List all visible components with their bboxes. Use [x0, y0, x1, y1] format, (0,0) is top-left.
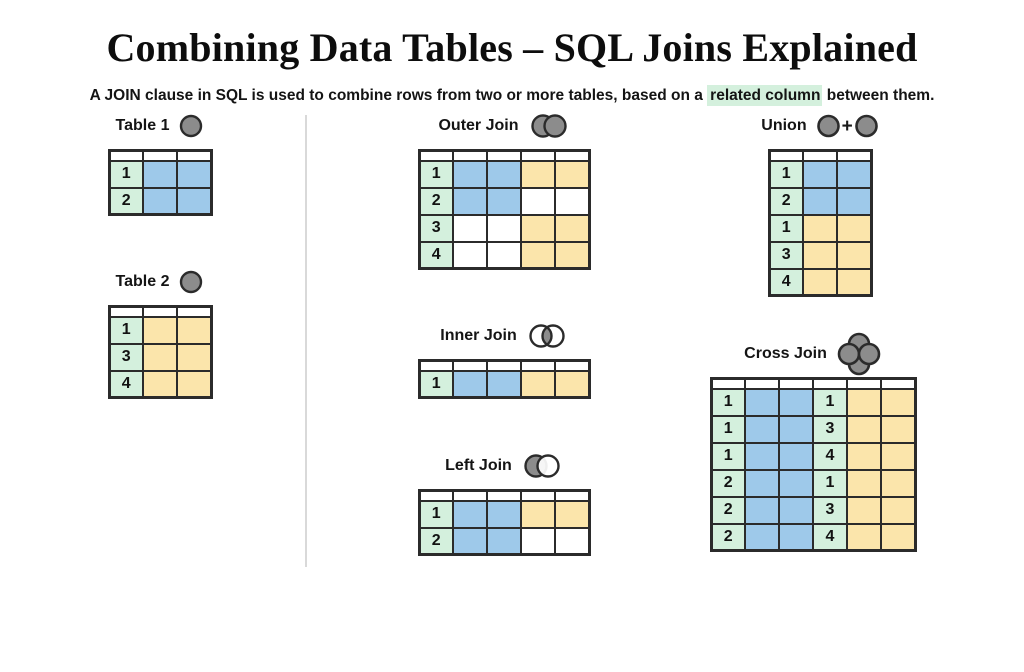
table-cell: 1: [769, 215, 803, 242]
table-cell: [837, 161, 871, 188]
table-cell: 4: [813, 443, 847, 470]
table-cell: [487, 528, 521, 555]
table-cell: [487, 242, 521, 269]
header-cell: [109, 307, 143, 317]
table-cell: [521, 242, 555, 269]
table-row: 1: [109, 317, 211, 344]
header-cell: [143, 307, 177, 317]
table-header-row: [419, 361, 589, 371]
table-cell: [143, 188, 177, 215]
table-wrap: 12: [408, 489, 600, 556]
table-cell: [881, 524, 915, 551]
table-cell: 1: [769, 161, 803, 188]
block-table1: Table 1 12: [72, 113, 248, 216]
venn-left-filled-icon: [521, 453, 563, 479]
table-row: 1: [419, 161, 589, 188]
table-cell: [837, 215, 871, 242]
table-cell: 2: [711, 470, 745, 497]
table-row: 2: [419, 188, 589, 215]
header-cell: [521, 361, 555, 371]
table-row: 1: [419, 501, 589, 528]
table-row: 23: [711, 497, 915, 524]
table-cell: [555, 215, 589, 242]
block-inner-join: Inner Join 1: [408, 323, 600, 399]
table-cell: 2: [769, 188, 803, 215]
diagram-canvas: Table 1 12 Table 2 134 Outer Join: [0, 105, 1024, 665]
table-cell: [177, 344, 211, 371]
data-table: 12: [418, 489, 591, 556]
subtitle-text-before: A JOIN clause in SQL is used to combine …: [90, 87, 708, 104]
table-cell: [779, 497, 813, 524]
table-cell: [847, 524, 881, 551]
table-cell: [555, 188, 589, 215]
table-cell: [177, 188, 211, 215]
column-divider: [305, 115, 307, 567]
venn-both-filled-icon: [528, 113, 570, 139]
table-cell: [881, 443, 915, 470]
table-header-row: [109, 307, 211, 317]
table-cell: 1: [711, 389, 745, 416]
table-cell: 1: [813, 470, 847, 497]
block-left-join: Left Join 12: [408, 453, 600, 556]
table-cell: [837, 188, 871, 215]
page-header: Combining Data Tables – SQL Joins Explai…: [0, 0, 1024, 105]
block-label: Union: [761, 117, 806, 135]
table-cell: [487, 161, 521, 188]
table-cell: [847, 470, 881, 497]
single-circle-filled-icon: [178, 113, 204, 139]
header-cell: [453, 151, 487, 161]
header-cell: [453, 491, 487, 501]
header-cell: [745, 379, 779, 389]
header-cell: [453, 361, 487, 371]
table-cell: [143, 317, 177, 344]
table-cell: [487, 188, 521, 215]
table-cell: [745, 524, 779, 551]
table-row: 2: [109, 188, 211, 215]
table-cell: 3: [419, 215, 453, 242]
table-cell: 3: [813, 497, 847, 524]
table-cell: [745, 443, 779, 470]
table-cell: [487, 371, 521, 398]
header-cell: [555, 361, 589, 371]
table-cell: [881, 497, 915, 524]
block-outer-join: Outer Join 1234: [408, 113, 600, 270]
header-cell: [521, 151, 555, 161]
header-cell: [847, 379, 881, 389]
table-wrap: 111314212324: [700, 377, 926, 552]
table-cell: [847, 497, 881, 524]
table-cell: 3: [813, 416, 847, 443]
table-row: 24: [711, 524, 915, 551]
table-cell: [837, 269, 871, 296]
single-circle-filled-icon: [178, 269, 204, 295]
table-cell: [487, 501, 521, 528]
block-header: Inner Join: [408, 323, 600, 349]
table-cell: [177, 371, 211, 398]
table-cell: [521, 215, 555, 242]
table-wrap: 1234: [408, 149, 600, 270]
table-row: 2: [769, 188, 871, 215]
table-row: 4: [769, 269, 871, 296]
header-cell: [177, 307, 211, 317]
header-cell: [419, 151, 453, 161]
table-cell: [555, 501, 589, 528]
table-cell: [555, 371, 589, 398]
header-cell: [109, 151, 143, 161]
table-cell: 3: [109, 344, 143, 371]
header-cell: [177, 151, 211, 161]
table-cell: [143, 161, 177, 188]
subtitle-highlight: related column: [707, 85, 822, 106]
plus-symbol: +: [842, 117, 853, 136]
table-cell: [177, 161, 211, 188]
data-table: 134: [108, 305, 213, 399]
table-cell: [453, 371, 487, 398]
table-cell: [837, 242, 871, 269]
table-row: 1: [769, 215, 871, 242]
block-union: Union + 12134: [722, 113, 918, 297]
table-cell: 2: [109, 188, 143, 215]
table-cell: [177, 317, 211, 344]
data-table: 1: [418, 359, 591, 399]
header-cell: [803, 151, 837, 161]
block-label: Inner Join: [440, 327, 516, 345]
table-cell: 1: [419, 501, 453, 528]
table-cell: [453, 501, 487, 528]
table-header-row: [711, 379, 915, 389]
header-cell: [837, 151, 871, 161]
table-cell: 4: [109, 371, 143, 398]
table-row: 1: [109, 161, 211, 188]
block-header: Outer Join: [408, 113, 600, 139]
table-cell: [143, 371, 177, 398]
header-cell: [711, 379, 745, 389]
table-cell: [779, 389, 813, 416]
table-cell: 1: [109, 317, 143, 344]
table-cell: [453, 528, 487, 555]
table-cell: [779, 443, 813, 470]
table-row: 1: [419, 371, 589, 398]
data-table: 1234: [418, 149, 591, 270]
table-cell: [881, 416, 915, 443]
table-cell: [779, 470, 813, 497]
table-cell: [745, 389, 779, 416]
header-cell: [881, 379, 915, 389]
table-header-row: [419, 151, 589, 161]
table-cell: [555, 242, 589, 269]
page-title: Combining Data Tables – SQL Joins Explai…: [0, 26, 1024, 71]
block-label: Cross Join: [744, 345, 827, 363]
data-table: 12: [108, 149, 213, 216]
block-table2: Table 2 134: [72, 269, 248, 399]
table-cell: 4: [769, 269, 803, 296]
table-cell: [881, 470, 915, 497]
table-cell: 2: [711, 497, 745, 524]
table-cell: 4: [419, 242, 453, 269]
table-row: 14: [711, 443, 915, 470]
table-cell: [745, 470, 779, 497]
table-row: 1: [769, 161, 871, 188]
table-cell: [521, 371, 555, 398]
table-row: 3: [769, 242, 871, 269]
table-cell: 1: [711, 443, 745, 470]
header-cell: [813, 379, 847, 389]
table-cell: [779, 416, 813, 443]
table-cell: [779, 524, 813, 551]
block-header: Cross Join: [700, 341, 926, 367]
table-cell: [521, 528, 555, 555]
header-cell: [419, 491, 453, 501]
table-cell: [143, 344, 177, 371]
table-cell: [803, 242, 837, 269]
table-cell: [521, 188, 555, 215]
table-row: 3: [419, 215, 589, 242]
venn-intersection-filled-icon: [526, 323, 568, 349]
block-header: Left Join: [408, 453, 600, 479]
table-cell: [847, 443, 881, 470]
header-cell: [555, 491, 589, 501]
table-cell: [453, 161, 487, 188]
table-cell: 2: [419, 188, 453, 215]
block-cross-join: Cross Join 111314212324: [700, 341, 926, 552]
table-row: 13: [711, 416, 915, 443]
table-row: 4: [419, 242, 589, 269]
table-cell: 2: [711, 524, 745, 551]
header-cell: [487, 361, 521, 371]
table-cell: [521, 501, 555, 528]
header-cell: [769, 151, 803, 161]
table-cell: [555, 528, 589, 555]
table-cell: [881, 389, 915, 416]
header-cell: [143, 151, 177, 161]
table-cell: [453, 215, 487, 242]
table-wrap: 1: [408, 359, 600, 399]
table-cell: [745, 416, 779, 443]
table-cell: 3: [769, 242, 803, 269]
table-cell: [555, 161, 589, 188]
table-header-row: [419, 491, 589, 501]
header-cell: [487, 491, 521, 501]
table-row: 4: [109, 371, 211, 398]
table-cell: 1: [419, 371, 453, 398]
table-cell: [521, 161, 555, 188]
table-row: 3: [109, 344, 211, 371]
header-cell: [555, 151, 589, 161]
header-cell: [419, 361, 453, 371]
table-cell: [803, 161, 837, 188]
table-cell: 1: [109, 161, 143, 188]
table-header-row: [769, 151, 871, 161]
block-label: Left Join: [445, 457, 512, 475]
table-row: 2: [419, 528, 589, 555]
table-row: 11: [711, 389, 915, 416]
table-cell: [453, 242, 487, 269]
subtitle-text-after: between them.: [822, 87, 934, 104]
block-header: Table 1: [72, 113, 248, 139]
table-wrap: 12: [72, 149, 248, 216]
table-cell: [847, 416, 881, 443]
table-cell: [847, 389, 881, 416]
data-table: 111314212324: [710, 377, 917, 552]
header-cell: [487, 151, 521, 161]
header-cell: [521, 491, 555, 501]
table-cell: [745, 497, 779, 524]
table-row: 21: [711, 470, 915, 497]
block-header: Table 2: [72, 269, 248, 295]
table-cell: 1: [711, 416, 745, 443]
table-cell: [803, 215, 837, 242]
table-wrap: 134: [72, 305, 248, 399]
table-cell: 4: [813, 524, 847, 551]
page-subtitle: A JOIN clause in SQL is used to combine …: [0, 87, 1024, 106]
block-label: Outer Join: [438, 117, 518, 135]
two-circles-plus-icon: +: [816, 113, 879, 139]
data-table: 12134: [768, 149, 873, 297]
table-wrap: 12134: [722, 149, 918, 297]
table-cell: [453, 188, 487, 215]
table-cell: 1: [419, 161, 453, 188]
header-cell: [779, 379, 813, 389]
table-cell: [803, 188, 837, 215]
table-header-row: [109, 151, 211, 161]
table-cell: [487, 215, 521, 242]
block-header: Union +: [722, 113, 918, 139]
block-label: Table 1: [116, 117, 170, 135]
block-label: Table 2: [116, 273, 170, 291]
table-cell: 1: [813, 389, 847, 416]
table-cell: [803, 269, 837, 296]
table-cell: 2: [419, 528, 453, 555]
four-circles-rosette-icon: [836, 331, 882, 377]
